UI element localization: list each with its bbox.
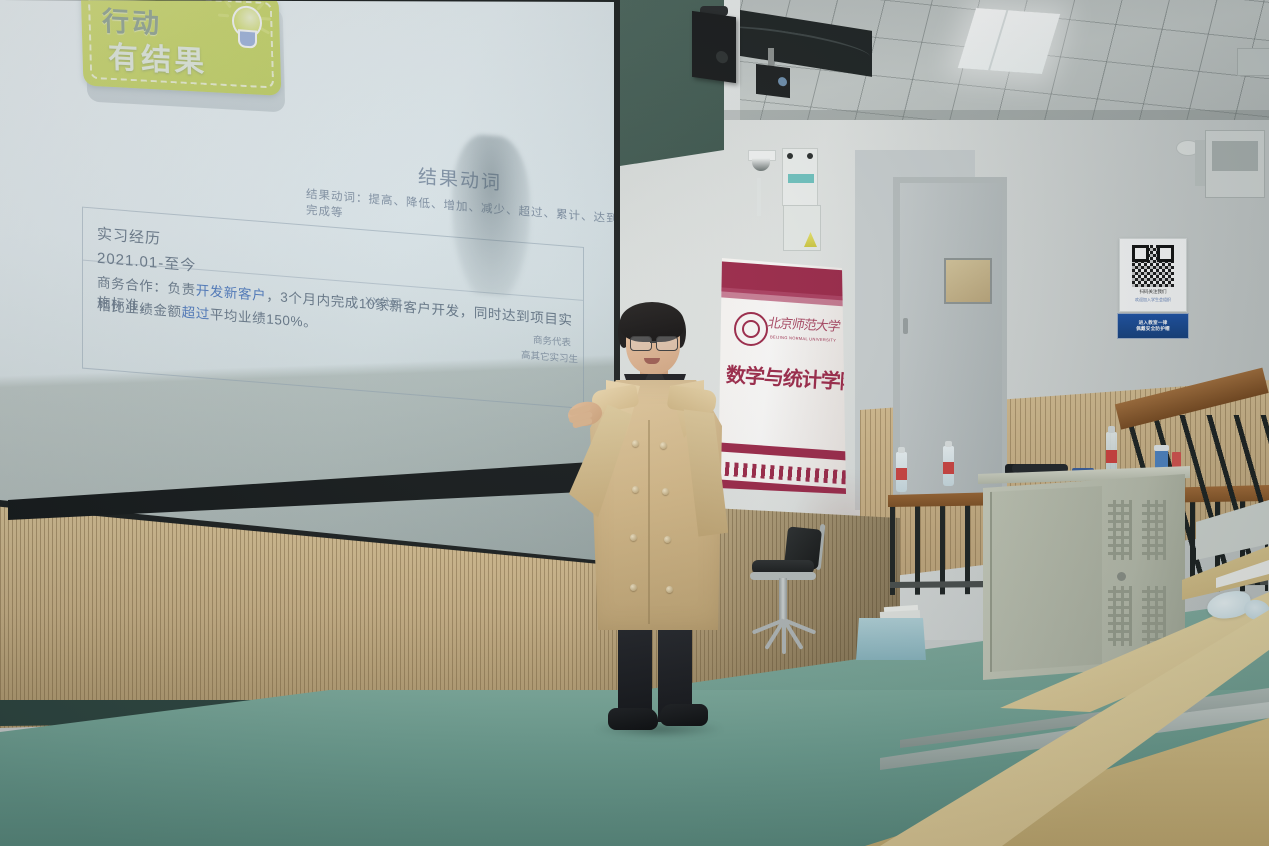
wall-vent — [1237, 48, 1269, 76]
ceiling-panel-light — [958, 8, 1061, 74]
presenter — [572, 300, 742, 730]
bottle-label — [943, 462, 954, 474]
coat-button — [632, 486, 639, 493]
podium-lock-icon[interactable] — [1117, 572, 1126, 581]
safety-sign-line1: 进入教室一律 — [1139, 320, 1168, 325]
stool-gas-post — [779, 578, 787, 624]
coat-button — [630, 584, 637, 591]
glasses-lens-right — [656, 336, 678, 351]
wall-utility-box — [1205, 130, 1265, 198]
qr-poster-caption: 扫码关注我们 — [1120, 289, 1186, 295]
bottle-label — [896, 468, 907, 480]
door-window — [944, 258, 992, 304]
dome-camera-icon — [748, 150, 774, 178]
panel-label-strip — [788, 174, 814, 183]
panel-screw-right — [807, 153, 813, 159]
coat-button — [666, 586, 673, 593]
bottle-cap — [898, 447, 905, 453]
presenter-coat-placket — [648, 420, 650, 624]
coat-button — [660, 442, 667, 449]
panel-screw-left — [787, 153, 793, 159]
bottle-cap — [1108, 426, 1115, 433]
speaker-cone-icon — [716, 50, 728, 64]
ceiling-projector — [756, 64, 790, 98]
camera-dome — [752, 158, 770, 171]
coat-button — [632, 440, 639, 447]
waste-bin — [856, 618, 926, 660]
projector-lens-icon — [778, 77, 787, 87]
stool-base-legs — [750, 620, 820, 658]
bottle-label — [1106, 450, 1117, 463]
coat-button — [630, 534, 637, 541]
qr-code-icon — [1132, 245, 1174, 287]
warning-triangle-icon — [804, 232, 817, 247]
lecture-hall-photo: 行动 有结果 结果动词 结果动词：提高、降低、增加、减少、超过、累计、达到、完成… — [0, 0, 1269, 846]
cup-lid — [1154, 445, 1169, 451]
water-bottle — [896, 452, 907, 492]
door-handle[interactable] — [903, 318, 908, 334]
qr-poster-subcaption: 欢迎加入学生会组织 — [1120, 297, 1186, 303]
glasses-lens-left — [630, 336, 652, 351]
banner-university-name: 北京师范大学 — [766, 312, 840, 334]
coat-button — [662, 488, 669, 495]
qr-poster: 扫码关注我们 欢迎加入学生会组织 — [1119, 238, 1187, 312]
camera-post — [757, 178, 761, 216]
safety-sign-line2: 佩戴安全防护帽 — [1136, 326, 1170, 331]
banner-university-name-en: BEIJING NORMAL UNIVERSITY — [770, 334, 836, 342]
wall-speaker — [692, 11, 736, 83]
podium-open-door[interactable] — [990, 486, 1104, 672]
presenter-shoe-left — [608, 708, 658, 730]
water-bottle — [943, 446, 954, 486]
wall-junction-box[interactable] — [783, 205, 821, 251]
coat-button — [664, 536, 671, 543]
glasses-bridge — [650, 341, 656, 343]
presenter-leg-left — [618, 618, 652, 722]
presenter-shoe-right — [660, 704, 708, 726]
safety-sign-text: 进入教室一律佩戴安全防护帽 — [1136, 320, 1170, 332]
safety-notice-sign: 进入教室一律佩戴安全防护帽 — [1117, 313, 1189, 339]
bottle-cap — [945, 441, 952, 447]
utility-box-face — [1212, 141, 1258, 171]
banner-school-name: 数学与统计学院 — [725, 359, 845, 395]
